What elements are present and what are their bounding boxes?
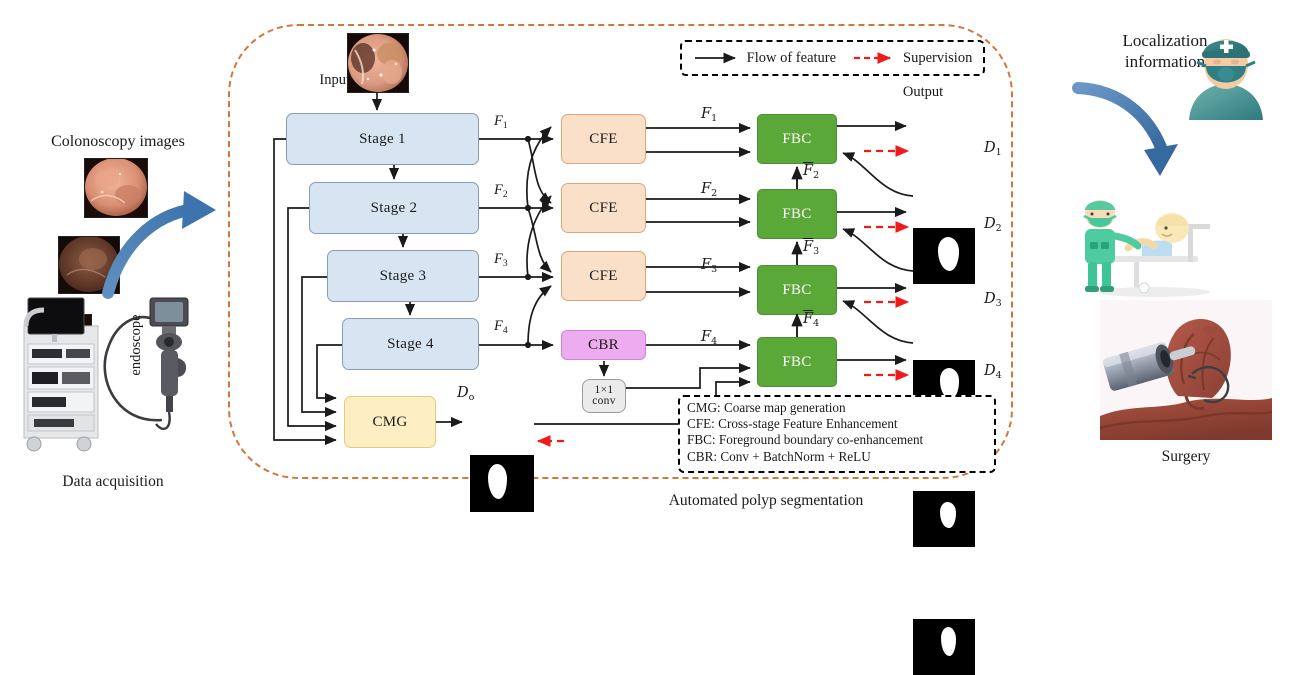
tilde-feature-label-3: F3 [803, 239, 819, 257]
stage-3-label: Stage 3 [380, 268, 427, 285]
feature-label-f3: F3 [494, 251, 508, 269]
output-mask-3 [913, 491, 975, 547]
script-feature-label-4: F4 [701, 329, 717, 347]
fbc-block-3[interactable]: FBC [757, 265, 837, 315]
doctor-patient-scene [1068, 196, 1218, 302]
pipeline-caption: Automated polyp segmentation [566, 492, 966, 510]
stage-4-block[interactable]: Stage 4 [342, 318, 479, 370]
legend-supervision-label: Supervision [903, 50, 972, 67]
cmg-block[interactable]: CMG [344, 396, 436, 448]
colonoscopy-images-title: Colonoscopy images [18, 130, 218, 154]
input-image-thumbnail [347, 33, 409, 93]
abbr-cbr: CBR: Conv + BatchNorm + ReLU [687, 449, 987, 465]
fbc-block-1[interactable]: FBC [757, 114, 837, 164]
coarse-map-output [470, 455, 534, 512]
cmg-label: CMG [372, 414, 407, 431]
cbr-label: CBR [588, 337, 619, 354]
supervision-arrow-icon [852, 51, 900, 65]
acquisition-to-pipeline-arrow [100, 185, 230, 300]
cbr-block[interactable]: CBR [561, 330, 646, 360]
cfe-block-2[interactable]: CFE [561, 183, 646, 233]
conv-1x1-block[interactable]: 1×1 conv [582, 379, 626, 413]
cfe-block-3[interactable]: CFE [561, 251, 646, 301]
endoscopy-equipment-illustration [14, 292, 212, 457]
script-feature-label-2: F2 [701, 181, 717, 199]
abbreviation-legend-box: CMG: Coarse map generation CFE: Cross-st… [678, 395, 996, 473]
cfe-3-label: CFE [589, 268, 617, 285]
abbr-fbc: FBC: Foreground boundary co-enhancement [687, 432, 987, 448]
abbr-cfe: CFE: Cross-stage Feature Enhancement [687, 416, 987, 432]
output-label-d3: D3 [984, 291, 1002, 309]
stage-2-label: Stage 2 [371, 200, 418, 217]
output-label-d4: D4 [984, 363, 1002, 381]
output-label-d1: D1 [984, 140, 1002, 158]
tilde-feature-label-2: F2 [803, 163, 819, 181]
coarse-map-label: Do [457, 385, 474, 403]
output-label-d2: D2 [984, 216, 1002, 234]
output-label: Output [888, 84, 958, 101]
data-acquisition-label: Data acquisition [8, 470, 218, 494]
fbc-block-4[interactable]: FBC [757, 337, 837, 387]
cfe-1-label: CFE [589, 131, 617, 148]
fbc-block-2[interactable]: FBC [757, 189, 837, 239]
fbc-3-label: FBC [782, 282, 811, 299]
legend-flow-box: Flow of feature Supervision [680, 40, 985, 76]
conv-line-2: conv [592, 396, 616, 408]
script-feature-label-1: F1 [701, 106, 717, 124]
stage-1-label: Stage 1 [359, 131, 406, 148]
abbr-cmg: CMG: Coarse map generation [687, 400, 987, 416]
feature-label-f1: F1 [494, 113, 508, 131]
input-label: Input [306, 72, 350, 89]
stage-4-label: Stage 4 [387, 336, 434, 353]
cfe-block-1[interactable]: CFE [561, 114, 646, 164]
output-mask-4 [913, 619, 975, 675]
cfe-2-label: CFE [589, 200, 617, 217]
fbc-1-label: FBC [782, 131, 811, 148]
output-mask-1 [913, 228, 975, 284]
tilde-feature-label-4: F4 [803, 311, 819, 329]
feature-label-f2: F2 [494, 182, 508, 200]
legend-flow-label: Flow of feature [747, 50, 836, 67]
surgeon-avatar [1183, 28, 1269, 120]
stage-1-block[interactable]: Stage 1 [286, 113, 479, 165]
fbc-2-label: FBC [782, 206, 811, 223]
endoscope-label: endoscope [125, 295, 147, 395]
surgery-label: Surgery [1100, 445, 1272, 469]
stage-3-block[interactable]: Stage 3 [327, 250, 479, 302]
flow-arrow-icon [693, 51, 745, 65]
fbc-4-label: FBC [782, 354, 811, 371]
stage-2-block[interactable]: Stage 2 [309, 182, 479, 234]
script-feature-label-3: F3 [701, 257, 717, 275]
polyp-removal-illustration [1100, 300, 1272, 440]
feature-label-f4: F4 [494, 318, 508, 336]
